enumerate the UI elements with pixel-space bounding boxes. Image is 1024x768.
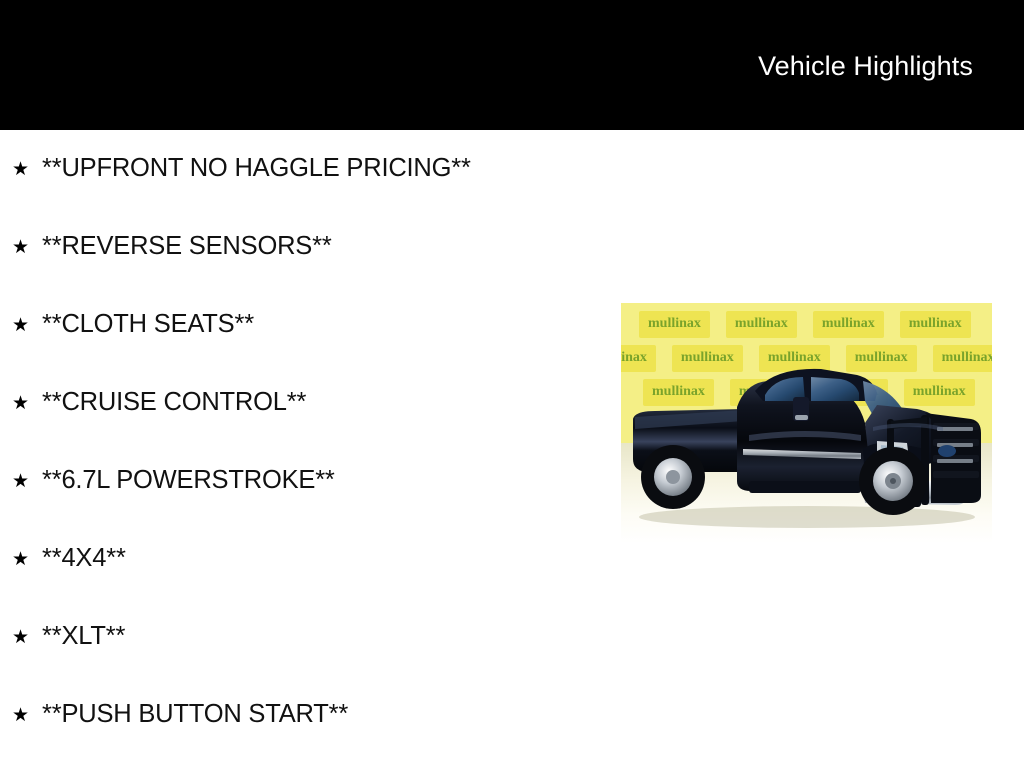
list-item: ★ **CRUISE CONTROL** xyxy=(0,364,620,442)
list-item: ★ **XLT** xyxy=(0,598,620,676)
highlight-label: **UPFRONT NO HAGGLE PRICING** xyxy=(42,156,471,182)
list-item: ★ **CLOTH SEATS** xyxy=(0,286,620,364)
header-band: Vehicle Highlights xyxy=(0,0,1024,130)
list-item: ★ **6.7L POWERSTROKE** xyxy=(0,442,620,520)
list-item: ★ **UPFRONT NO HAGGLE PRICING** xyxy=(0,130,620,208)
vehicle-photo[interactable]: mullinax mullinax mullinax mullinax mull… xyxy=(621,303,992,543)
mirror-trim xyxy=(795,415,808,420)
star-icon: ★ xyxy=(12,706,42,725)
list-item: ★ **REVERSE SENSORS** xyxy=(0,208,620,286)
star-icon: ★ xyxy=(12,628,42,647)
front-wheel xyxy=(859,447,927,515)
star-icon: ★ xyxy=(12,160,42,179)
rear-wheel xyxy=(641,445,705,509)
highlight-label: **CRUISE CONTROL** xyxy=(42,390,306,416)
star-icon: ★ xyxy=(12,316,42,335)
highlight-label: **XLT** xyxy=(42,624,125,650)
star-icon: ★ xyxy=(12,472,42,491)
highlight-label: **PUSH BUTTON START** xyxy=(42,702,348,728)
star-icon: ★ xyxy=(12,394,42,413)
highlight-label: **CLOTH SEATS** xyxy=(42,312,254,338)
list-item: ★ **PUSH BUTTON START** xyxy=(0,676,620,754)
running-board xyxy=(749,481,861,493)
ford-badge xyxy=(938,445,956,457)
list-item: ★ **4X4** xyxy=(0,520,620,598)
highlight-label: **6.7L POWERSTROKE** xyxy=(42,468,335,494)
star-icon: ★ xyxy=(12,238,42,257)
highlight-label: **4X4** xyxy=(42,546,126,572)
page-title: Vehicle Highlights xyxy=(758,50,973,82)
star-icon: ★ xyxy=(12,550,42,569)
highlight-label: **REVERSE SENSORS** xyxy=(42,234,332,260)
truck-shadow xyxy=(639,506,975,528)
truck-illustration xyxy=(625,331,989,531)
vehicle-highlights-list: ★ **UPFRONT NO HAGGLE PRICING** ★ **REVE… xyxy=(0,130,620,754)
